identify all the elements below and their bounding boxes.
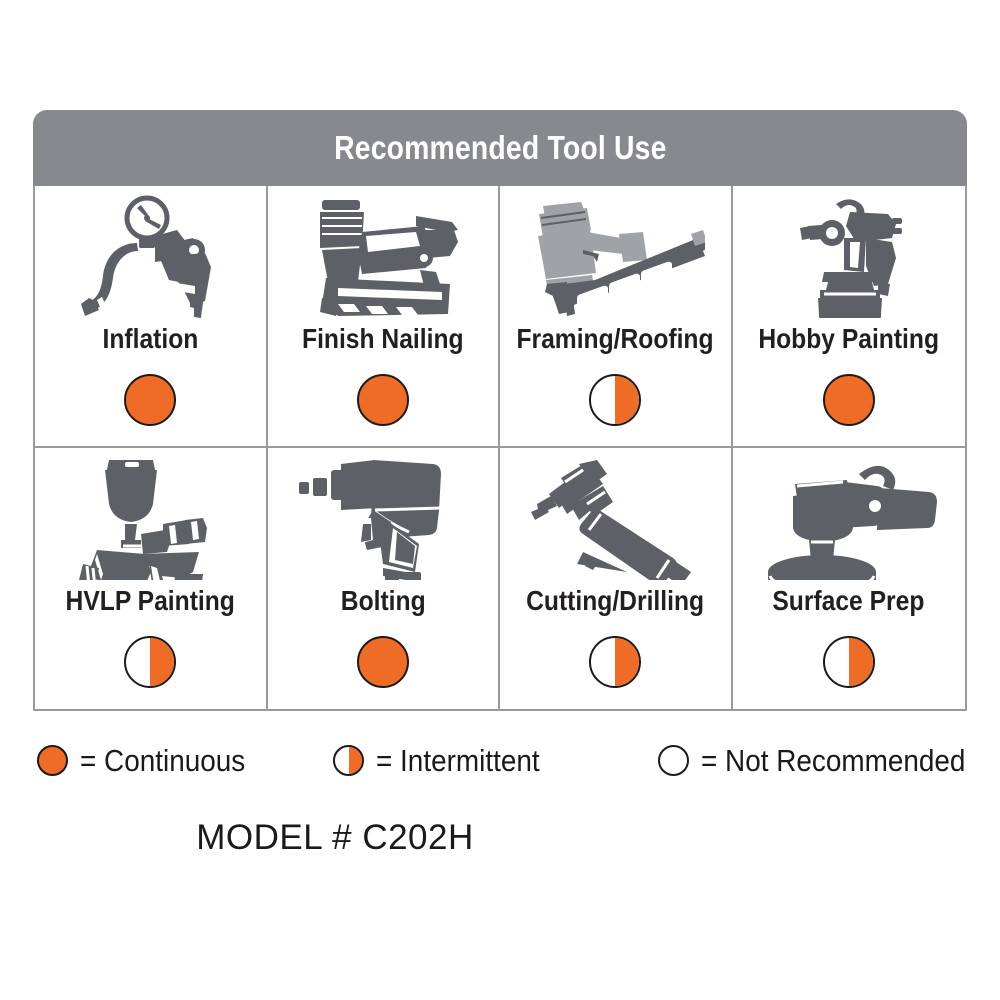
rating-indicator-wrap (357, 374, 409, 426)
tool-label: Inflation (102, 324, 198, 354)
legend-item-continuous: = Continuous (37, 745, 264, 776)
legend-label-intermittent: = Intermittent (376, 745, 540, 776)
legend-item-not-recommended: = Not Recommended (658, 745, 995, 776)
rating-indicator-wrap (357, 636, 409, 688)
model-number: MODEL # C202H (0, 818, 1000, 858)
tool-label: Bolting (340, 586, 425, 616)
tool-cell-cutting-drilling[interactable]: Cutting/Drilling (500, 448, 733, 710)
tool-cell-surface-prep[interactable]: Surface Prep (733, 448, 966, 710)
rating-indicator-wrap (823, 636, 875, 688)
status-badge-intermittent (589, 374, 641, 426)
framing-nailer-icon (500, 186, 731, 318)
tool-label: Framing/Roofing (517, 324, 714, 354)
legend-dot-not-recommended-icon (658, 745, 689, 776)
rating-indicator-wrap (589, 374, 641, 426)
tool-label: HVLP Painting (66, 586, 235, 616)
tool-label: Surface Prep (773, 586, 925, 616)
tool-cell-finish-nailing[interactable]: Finish Nailing (268, 186, 501, 448)
status-badge-intermittent (823, 636, 875, 688)
tool-use-chart-page: Recommended Tool Use (0, 0, 1000, 1000)
legend-label-continuous: = Continuous (80, 745, 245, 776)
tool-cell-hvlp-painting[interactable]: HVLP Painting (35, 448, 268, 710)
status-badge-intermittent (124, 636, 176, 688)
status-badge-continuous (823, 374, 875, 426)
card-header: Recommended Tool Use (33, 110, 967, 186)
rating-indicator-wrap (124, 374, 176, 426)
tool-cell-framing-roofing[interactable]: Framing/Roofing (500, 186, 733, 448)
legend-dot-intermittent-icon (333, 745, 364, 776)
legend-label-not-recommended: = Not Recommended (701, 745, 965, 776)
legend-dot-continuous-icon (37, 745, 68, 776)
legend: = Continuous = Intermittent = Not Recomm… (33, 730, 967, 790)
status-badge-continuous (124, 374, 176, 426)
orbital-sander-icon (733, 448, 966, 580)
tool-label: Hobby Painting (758, 324, 939, 354)
impact-wrench-icon (268, 448, 499, 580)
status-badge-continuous (357, 374, 409, 426)
siphon-spray-gun-icon (733, 186, 966, 318)
tool-cell-bolting[interactable]: Bolting (268, 448, 501, 710)
status-badge-continuous (357, 636, 409, 688)
status-badge-intermittent (589, 636, 641, 688)
tool-label: Cutting/Drilling (526, 586, 704, 616)
recommended-tool-use-card: Recommended Tool Use (33, 110, 967, 711)
tool-cell-hobby-painting[interactable]: Hobby Painting (733, 186, 966, 448)
tool-cell-inflation[interactable]: Inflation (35, 186, 268, 448)
die-grinder-icon (500, 448, 731, 580)
legend-item-intermittent: = Intermittent (333, 745, 558, 776)
model-number-text: MODEL # C202H (196, 818, 474, 858)
tool-label: Finish Nailing (302, 324, 464, 354)
rating-indicator-wrap (823, 374, 875, 426)
inflation-gun-icon (35, 186, 266, 318)
hvlp-spray-gun-icon (35, 448, 266, 580)
rating-indicator-wrap (124, 636, 176, 688)
finish-nailer-icon (268, 186, 499, 318)
rating-indicator-wrap (589, 636, 641, 688)
tool-grid: Inflation (33, 186, 967, 711)
page-title: Recommended Tool Use (334, 129, 667, 167)
